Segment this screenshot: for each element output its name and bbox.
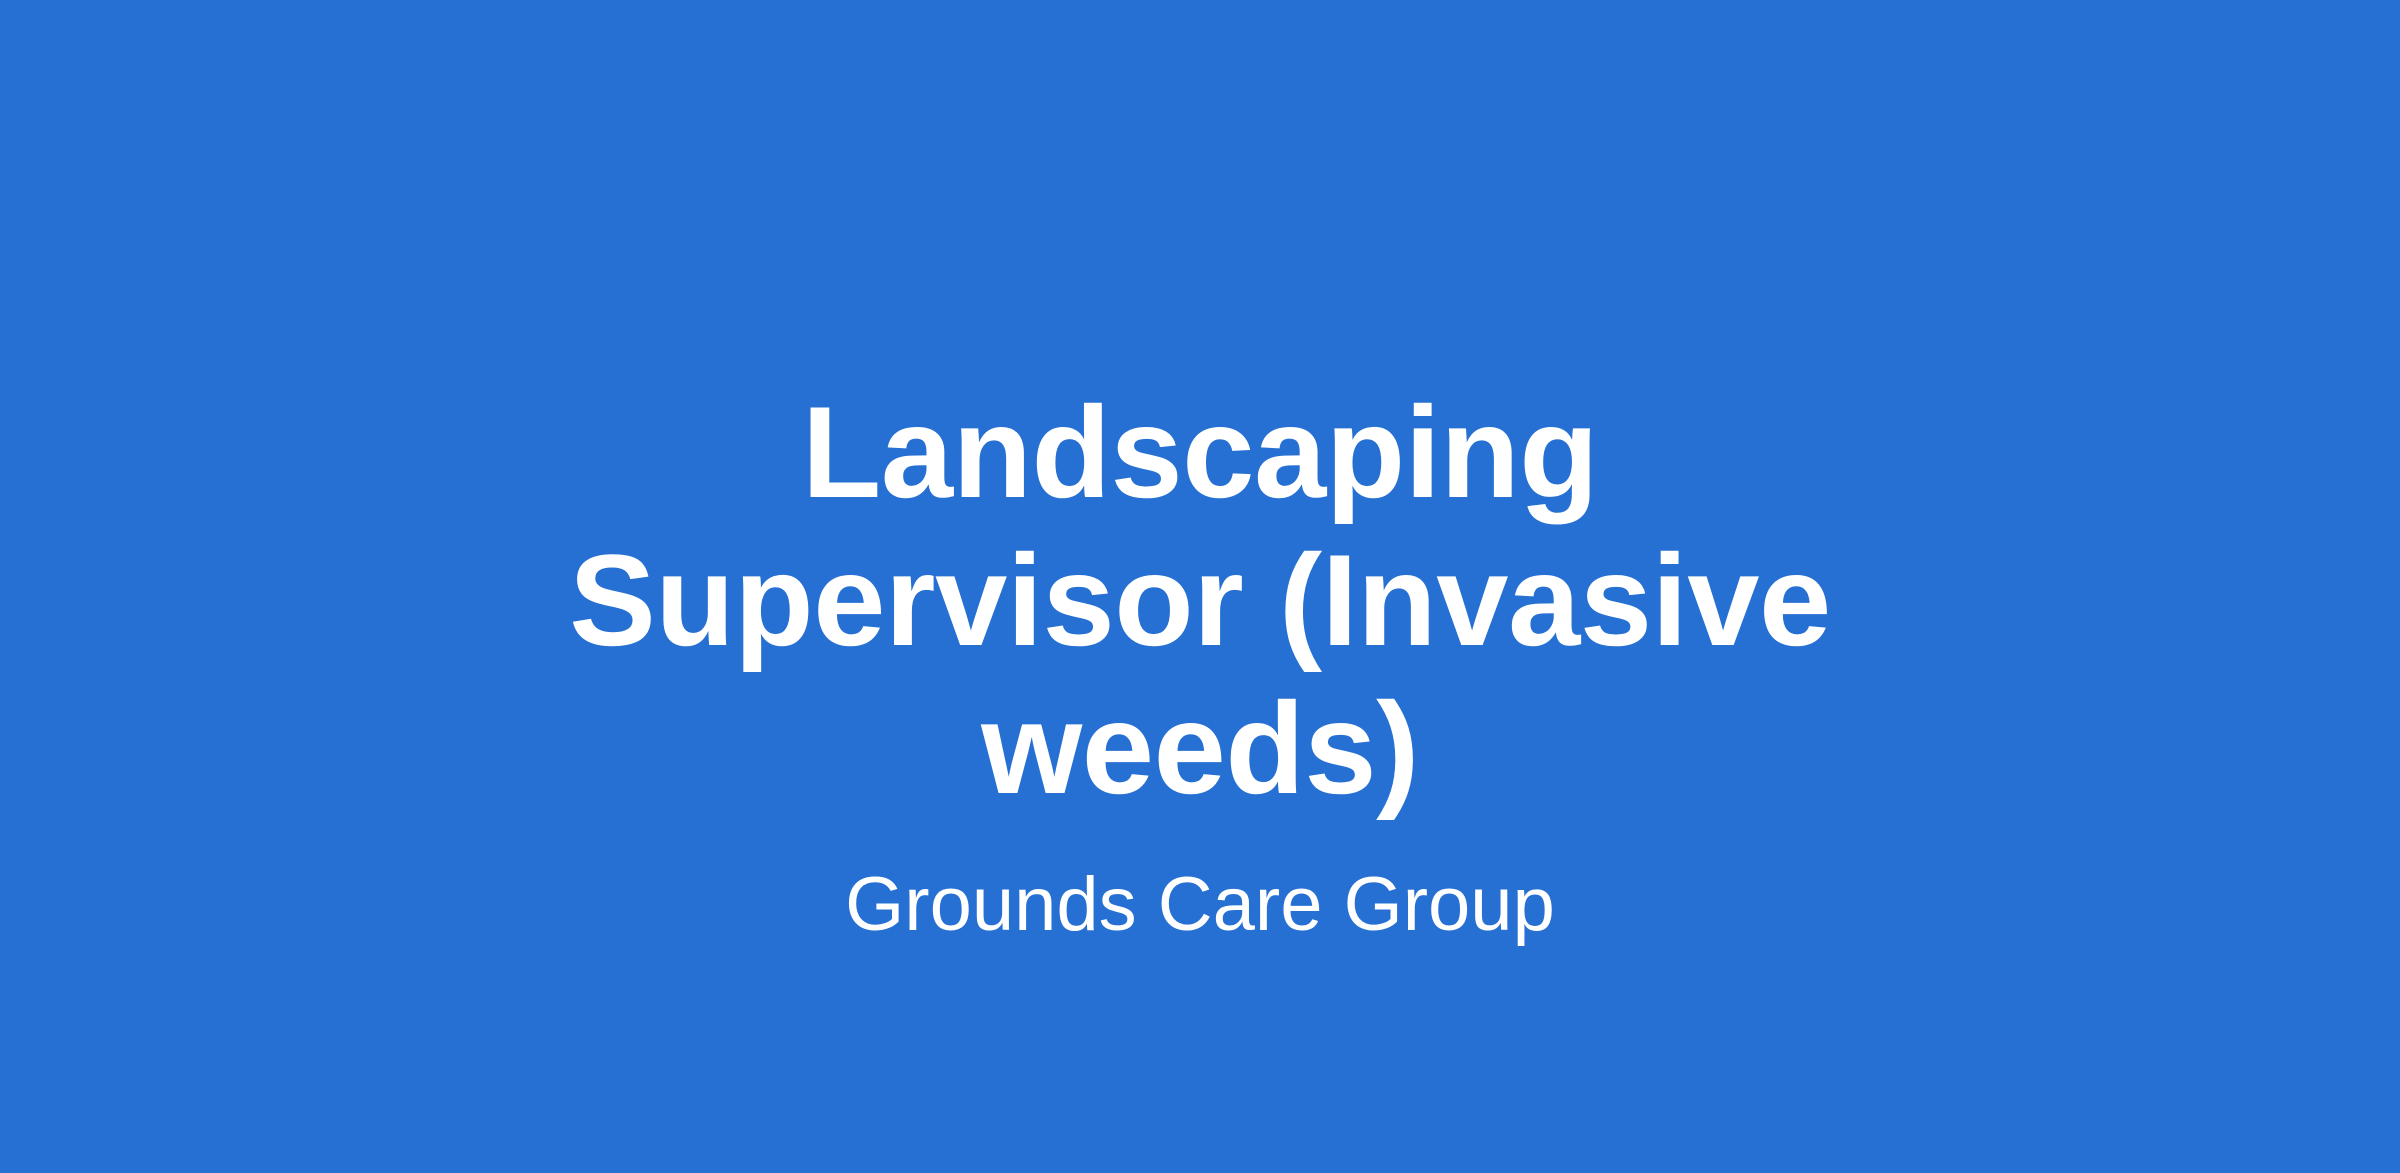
- title-slide: Landscaping Supervisor (Invasive weeds) …: [0, 0, 2400, 1173]
- title-block: Landscaping Supervisor (Invasive weeds) …: [500, 378, 1900, 950]
- page-subtitle: Grounds Care Group: [500, 822, 1900, 950]
- page-title: Landscaping Supervisor (Invasive weeds): [500, 378, 1900, 822]
